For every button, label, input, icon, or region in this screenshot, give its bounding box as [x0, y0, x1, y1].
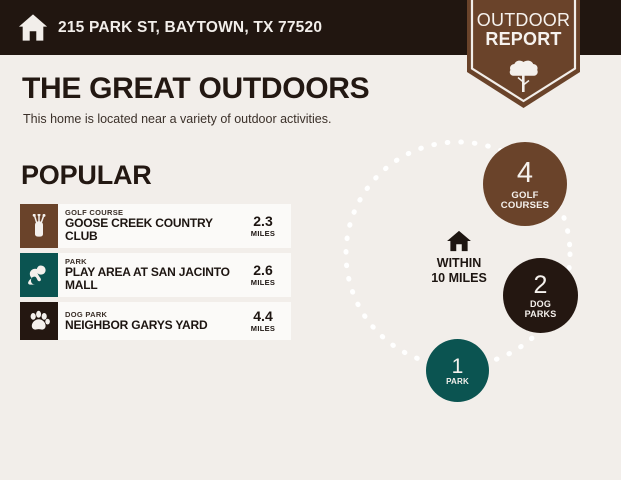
- outdoor-report-badge: OUTDOOR REPORT: [467, 0, 580, 108]
- golf-bag-icon: [28, 214, 50, 238]
- property-address: 215 PARK ST, BAYTOWN, TX 77520: [58, 19, 322, 37]
- stat-count: 2: [534, 273, 548, 298]
- distance-value: 2.6: [253, 263, 272, 278]
- distance-unit: MILES: [251, 278, 275, 287]
- distance-value: 4.4: [253, 309, 272, 324]
- place-name: NEIGHBOR GARYS YARD: [65, 319, 237, 332]
- place-info: DOG PARK NEIGHBOR GARYS YARD: [58, 302, 241, 340]
- list-item[interactable]: GOLF COURSE GOOSE CREEK COUNTRY CLUB 2.3…: [20, 204, 291, 248]
- distance-value: 2.3: [253, 214, 272, 229]
- stat-label-line-1: PARK: [446, 377, 469, 386]
- paw-print-icon: [27, 310, 51, 332]
- within-10-miles-diagram: 4 GOLF COURSES 2 DOG PARKS 1 PARK WITHIN: [330, 130, 621, 410]
- stat-label: GOLF COURSES: [501, 191, 549, 212]
- distance-unit: MILES: [251, 229, 275, 238]
- place-distance: 2.3 MILES: [241, 204, 291, 248]
- home-icon: [446, 230, 472, 252]
- place-icon-cell: [20, 302, 58, 340]
- stat-count: 4: [517, 159, 533, 188]
- page-title: THE GREAT OUTDOORS: [22, 72, 369, 106]
- place-distance: 2.6 MILES: [241, 253, 291, 297]
- stat-label: PARK: [446, 378, 469, 387]
- diagram-center-label: WITHIN 10 MILES: [404, 230, 514, 286]
- stat-label-line-1: DOG: [530, 299, 551, 309]
- stat-label: DOG PARKS: [525, 300, 557, 319]
- place-distance: 4.4 MILES: [241, 302, 291, 340]
- place-icon-cell: [20, 204, 58, 248]
- stat-label-line-2: PARKS: [525, 309, 557, 319]
- page-subtitle: This home is located near a variety of o…: [23, 112, 331, 126]
- stat-bubble-parks[interactable]: 1 PARK: [426, 339, 489, 402]
- place-info: GOLF COURSE GOOSE CREEK COUNTRY CLUB: [58, 204, 241, 248]
- stat-count: 1: [452, 356, 464, 377]
- list-item[interactable]: DOG PARK NEIGHBOR GARYS YARD 4.4 MILES: [20, 302, 291, 340]
- place-name: PLAY AREA AT SAN JACINTO MALL: [65, 266, 237, 293]
- distance-unit: MILES: [251, 324, 275, 333]
- section-heading-popular: POPULAR: [21, 160, 152, 191]
- stat-bubble-golf-courses[interactable]: 4 GOLF COURSES: [483, 142, 567, 226]
- footer: ListReports DISCLAIMER: The information …: [0, 425, 621, 480]
- stat-bubble-dog-parks[interactable]: 2 DOG PARKS: [503, 258, 578, 333]
- place-icon-cell: [20, 253, 58, 297]
- place-name: GOOSE CREEK COUNTRY CLUB: [65, 217, 237, 244]
- park-tree-icon: [27, 264, 51, 286]
- stat-label-line-2: COURSES: [501, 200, 549, 211]
- home-icon: [18, 13, 48, 42]
- outdoor-report-page: 215 PARK ST, BAYTOWN, TX 77520 OUTDOOR R…: [0, 0, 621, 480]
- popular-places-list: GOLF COURSE GOOSE CREEK COUNTRY CLUB 2.3…: [20, 204, 291, 345]
- list-item[interactable]: PARK PLAY AREA AT SAN JACINTO MALL 2.6 M…: [20, 253, 291, 297]
- center-line-1: WITHIN: [404, 256, 514, 271]
- place-info: PARK PLAY AREA AT SAN JACINTO MALL: [58, 253, 241, 297]
- center-line-2: 10 MILES: [404, 271, 514, 286]
